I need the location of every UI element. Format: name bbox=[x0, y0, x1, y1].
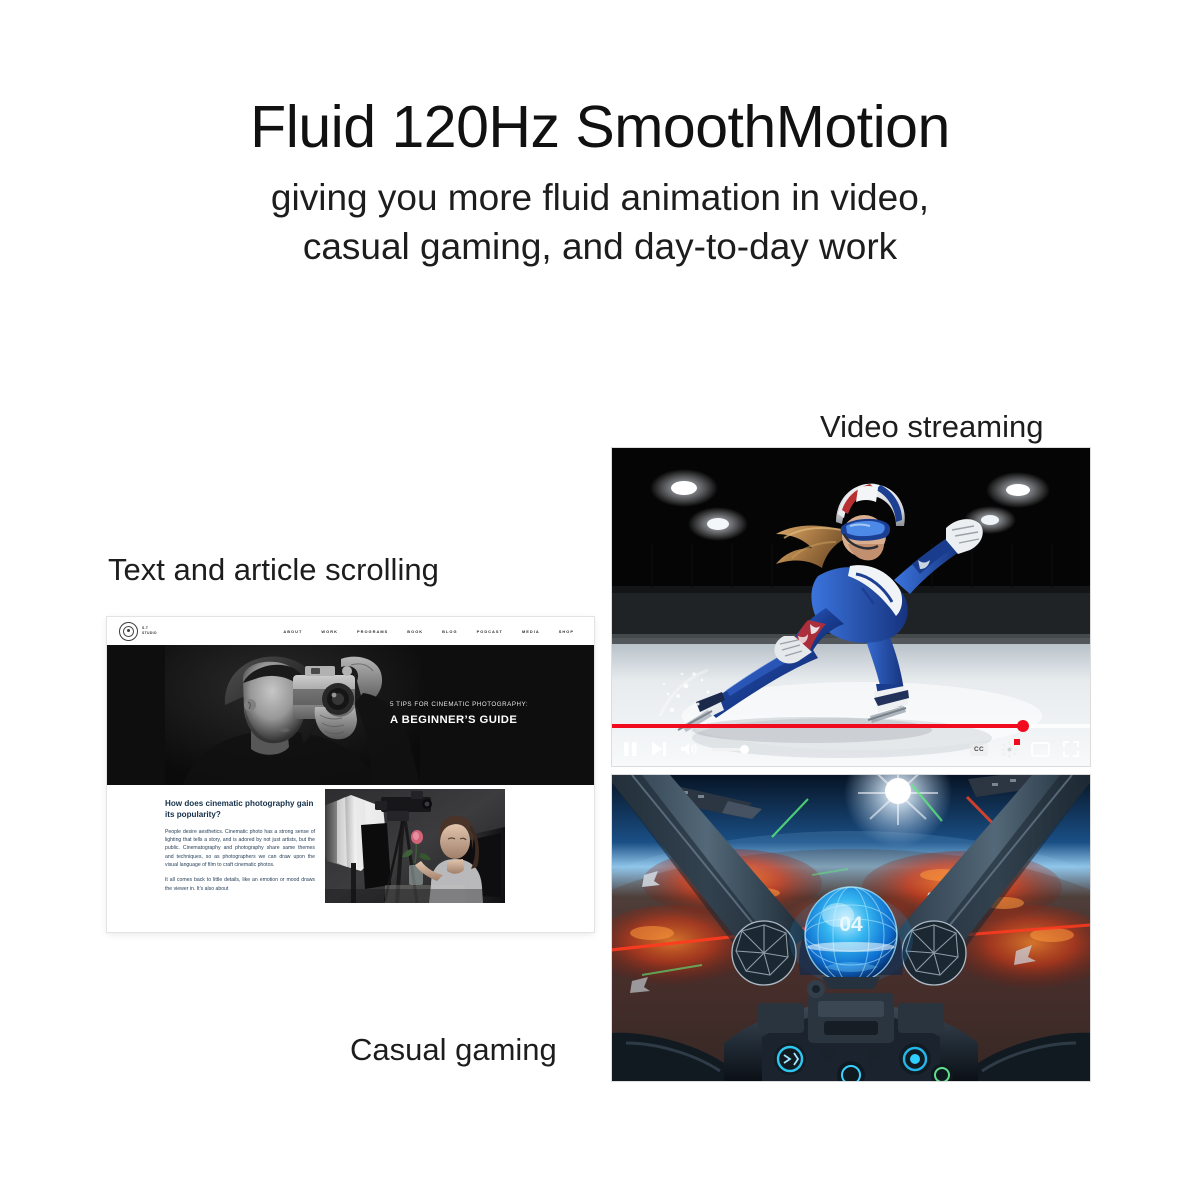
page-subtitle: giving you more fluid animation in video… bbox=[0, 174, 1200, 272]
site-logo[interactable]: S.T STUDIO bbox=[119, 622, 157, 641]
settings-gear-icon[interactable] bbox=[1001, 741, 1018, 758]
settings-notification-dot bbox=[1014, 739, 1020, 745]
hero-headline: A BEGINNER’S GUIDE bbox=[390, 714, 528, 726]
casual-gaming-scene[interactable]: 04 bbox=[612, 775, 1090, 1081]
subtitle-line-1: giving you more fluid animation in video… bbox=[271, 177, 929, 218]
volume-icon[interactable] bbox=[680, 741, 697, 757]
nav-item-blog[interactable]: BLOG bbox=[442, 629, 457, 634]
next-track-icon[interactable] bbox=[651, 741, 667, 757]
nav-item-media[interactable]: MEDIA bbox=[522, 629, 540, 634]
label-casual-gaming: Casual gaming bbox=[350, 1032, 557, 1068]
video-progress-fill bbox=[612, 724, 1023, 728]
video-player-controls[interactable]: CC bbox=[612, 718, 1090, 766]
site-hero-text: 5 TIPS FOR CINEMATIC PHOTOGRAPHY: A BEGI… bbox=[390, 701, 528, 726]
hero-photo-woman-with-camera bbox=[165, 645, 420, 785]
article-photo-studio-shoot bbox=[325, 789, 505, 903]
camera-lens-icon bbox=[119, 622, 138, 641]
article-paragraph-1: People desire aesthetics. Cinematic phot… bbox=[165, 828, 315, 870]
site-hero-banner: 5 TIPS FOR CINEMATIC PHOTOGRAPHY: A BEGI… bbox=[107, 645, 594, 785]
article-body: How does cinematic photography gain its … bbox=[107, 785, 594, 932]
nav-item-book[interactable]: BOOK bbox=[407, 629, 423, 634]
captions-icon[interactable]: CC bbox=[970, 743, 988, 756]
fullscreen-icon[interactable] bbox=[1063, 741, 1079, 757]
page-title: Fluid 120Hz SmoothMotion bbox=[0, 96, 1200, 160]
article-text-column: How does cinematic photography gain its … bbox=[165, 799, 315, 893]
label-text-scrolling: Text and article scrolling bbox=[108, 552, 439, 588]
hero-kicker: 5 TIPS FOR CINEMATIC PHOTOGRAPHY: bbox=[390, 701, 528, 708]
volume-slider[interactable] bbox=[712, 748, 748, 751]
subtitle-line-2: casual gaming, and day-to-day work bbox=[0, 223, 1200, 272]
nav-item-about[interactable]: ABOUT bbox=[283, 629, 302, 634]
pause-icon[interactable] bbox=[623, 741, 638, 757]
article-heading: How does cinematic photography gain its … bbox=[165, 799, 315, 821]
video-streaming-player[interactable]: CC bbox=[612, 448, 1090, 766]
nav-item-work[interactable]: WORK bbox=[321, 629, 338, 634]
label-video-streaming: Video streaming bbox=[820, 409, 1043, 445]
hud-readout: 04 bbox=[839, 913, 863, 936]
site-nav-links: ABOUT WORK PROGRAMS BOOK BLOG PODCAST ME… bbox=[283, 629, 580, 634]
nav-item-programs[interactable]: PROGRAMS bbox=[357, 629, 388, 634]
video-progress-bar[interactable] bbox=[612, 724, 1090, 728]
miniplayer-icon[interactable] bbox=[1031, 742, 1050, 757]
nav-item-podcast[interactable]: PODCAST bbox=[477, 629, 503, 634]
hero-text-block: Fluid 120Hz SmoothMotion giving you more… bbox=[0, 96, 1200, 271]
site-navbar: S.T STUDIO ABOUT WORK PROGRAMS BOOK BLOG… bbox=[107, 617, 594, 645]
article-paragraph-2: It all comes back to little details, lik… bbox=[165, 876, 315, 893]
video-progress-handle[interactable] bbox=[1017, 720, 1029, 732]
game-scene-space-cockpit: 04 bbox=[612, 775, 1090, 1081]
site-logo-text: S.T STUDIO bbox=[142, 626, 157, 636]
logo-line-2: STUDIO bbox=[142, 631, 157, 636]
nav-item-shop[interactable]: SHOP bbox=[559, 629, 574, 634]
volume-slider-handle[interactable] bbox=[740, 745, 749, 754]
article-scrolling-mockup[interactable]: S.T STUDIO ABOUT WORK PROGRAMS BOOK BLOG… bbox=[107, 617, 594, 932]
